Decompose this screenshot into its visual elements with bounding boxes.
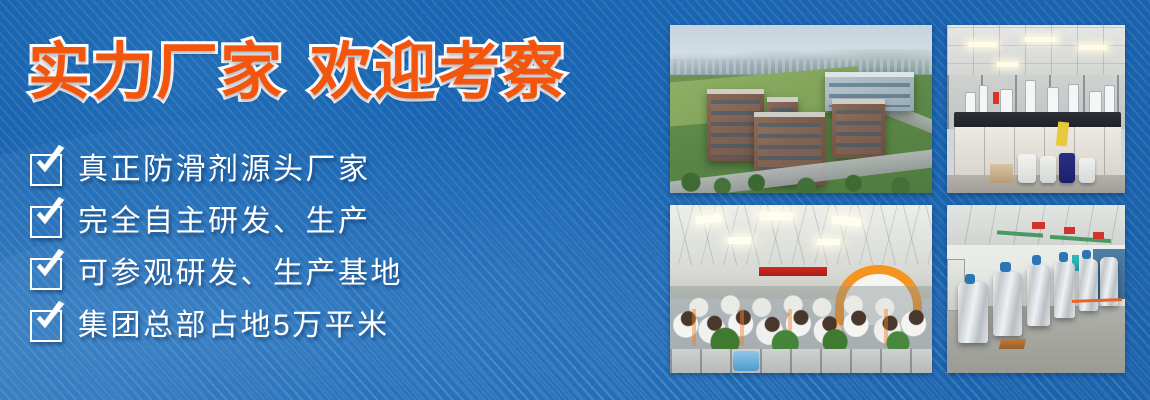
checkbox-checked-icon bbox=[30, 310, 62, 342]
photo-laboratory bbox=[947, 25, 1125, 193]
headline-part-one: 实力厂家 bbox=[28, 38, 284, 107]
list-item-label: 可参观研发、生产基地 bbox=[78, 257, 403, 291]
list-item-label: 集团总部占地5万平米 bbox=[78, 309, 390, 343]
list-item: 完全自主研发、生产 bbox=[30, 198, 630, 246]
check-mark-icon bbox=[33, 249, 67, 283]
checkbox-checked-icon bbox=[30, 154, 62, 186]
banner-copy-column: 实力厂家欢迎考察 真正防滑剂源头厂家 完全自主研发、生产 bbox=[0, 0, 655, 400]
photo-production-equipment-content bbox=[947, 205, 1125, 373]
page-title: 实力厂家欢迎考察 bbox=[28, 42, 566, 104]
photo-staff-team bbox=[670, 205, 932, 373]
photo-gallery bbox=[670, 25, 1125, 373]
list-item-label: 真正防滑剂源头厂家 bbox=[78, 153, 371, 187]
checkbox-checked-icon bbox=[30, 258, 62, 290]
list-item: 真正防滑剂源头厂家 bbox=[30, 146, 630, 194]
list-item-label: 完全自主研发、生产 bbox=[78, 205, 371, 239]
feature-list: 真正防滑剂源头厂家 完全自主研发、生产 可参观研发、生产基地 bbox=[30, 146, 630, 354]
photo-factory-campus bbox=[670, 25, 932, 193]
photo-factory-campus-content bbox=[670, 25, 932, 193]
check-mark-icon bbox=[33, 197, 67, 231]
check-mark-icon bbox=[33, 301, 67, 335]
photo-laboratory-content bbox=[947, 25, 1125, 193]
checkbox-checked-icon bbox=[30, 206, 62, 238]
headline-part-two: 欢迎考察 bbox=[310, 38, 566, 107]
photo-staff-team-content bbox=[670, 205, 932, 373]
list-item: 集团总部占地5万平米 bbox=[30, 302, 630, 350]
check-mark-icon bbox=[33, 145, 67, 179]
list-item: 可参观研发、生产基地 bbox=[30, 250, 630, 298]
promo-banner: 实力厂家欢迎考察 真正防滑剂源头厂家 完全自主研发、生产 bbox=[0, 0, 1150, 400]
photo-production-equipment bbox=[947, 205, 1125, 373]
